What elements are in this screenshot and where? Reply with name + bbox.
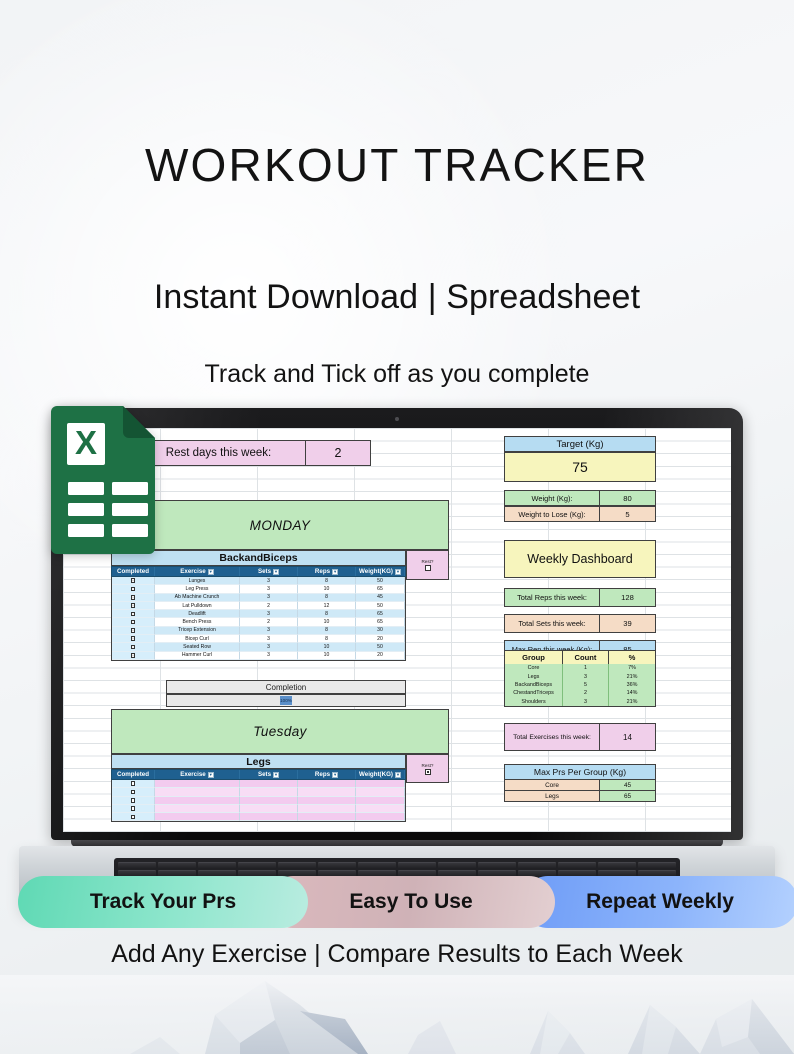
hero-section: WORKOUT TRACKER Instant Download | Sprea… — [0, 0, 794, 389]
completed-checkbox[interactable] — [131, 578, 136, 583]
group-table-cell-count: 1 — [563, 664, 609, 672]
total-exercises-value: 14 — [600, 723, 656, 751]
keyboard-key — [198, 862, 236, 869]
cell-weight[interactable]: 20 — [356, 652, 405, 660]
group-table-cell-count: 2 — [563, 689, 609, 697]
cell-reps[interactable]: 10 — [298, 618, 356, 626]
group-table-row: Legs321% — [505, 672, 655, 680]
table-row[interactable] — [112, 788, 405, 796]
filter-dropdown-icon[interactable]: ▼ — [332, 772, 338, 778]
cell-reps[interactable]: 8 — [298, 610, 356, 618]
group-table-cell-group: Shoulders — [505, 698, 563, 706]
group-stats-table: GroupCount%Core17%Legs321%BackandBiceps5… — [504, 650, 656, 707]
rest-label-monday: Rest? — [421, 559, 433, 564]
keyboard-key — [518, 862, 556, 869]
target-header: Target (Kg) — [504, 436, 656, 452]
cell-weight[interactable]: 30 — [356, 627, 405, 635]
cell-reps[interactable] — [298, 805, 356, 813]
table-row[interactable]: Tricep Extension3830 — [112, 627, 405, 635]
completion-progress-fill: 100% — [280, 696, 292, 705]
badge-label: Easy To Use — [349, 890, 472, 914]
completion-label: Completion — [166, 680, 406, 694]
column-header-label: Weight(KG) — [359, 568, 393, 575]
group-table-cell-pct: 21% — [609, 672, 655, 680]
keyboard-key — [638, 862, 676, 869]
total-exercises-row: Total Exercises this week: 14 — [504, 723, 656, 751]
keyboard-key — [238, 862, 276, 869]
total-sets-value: 39 — [600, 614, 656, 633]
table-row[interactable]: Hammer Curl31020 — [112, 652, 405, 660]
weight-to-lose-row: Weight to Lose (Kg): 5 — [504, 506, 656, 522]
feature-badges: Repeat Weekly Easy To Use Track Your Prs — [18, 876, 778, 928]
completion-progress-bar: 100% — [166, 694, 406, 707]
cell-sets[interactable] — [240, 788, 298, 796]
cell-reps[interactable] — [298, 780, 356, 788]
group-table-cell-count: 3 — [563, 698, 609, 706]
cell-exercise[interactable]: Seated Row — [155, 643, 240, 651]
group-table-row: Core17% — [505, 664, 655, 672]
completed-cell[interactable] — [112, 585, 155, 593]
cell-reps[interactable]: 8 — [298, 577, 356, 585]
cell-weight[interactable]: 20 — [356, 635, 405, 643]
column-header-label: Reps — [315, 771, 330, 778]
completed-cell[interactable] — [112, 602, 155, 610]
completed-checkbox[interactable] — [131, 790, 136, 795]
keyboard-key — [558, 862, 596, 869]
cell-reps[interactable] — [298, 813, 356, 821]
cell-sets[interactable]: 2 — [240, 602, 298, 610]
excel-file-icon[interactable]: X — [51, 406, 155, 554]
muscle-group-tuesday: Legs — [111, 754, 406, 769]
rest-label-tuesday: Rest? — [421, 763, 433, 768]
completed-cell[interactable] — [112, 627, 155, 635]
column-header-label: Reps — [315, 568, 330, 575]
cell-reps[interactable]: 10 — [298, 652, 356, 660]
table-row[interactable]: Lunges3850 — [112, 577, 405, 585]
rest-toggle-tuesday[interactable]: Rest? — [406, 754, 449, 783]
cell-weight[interactable]: 65 — [356, 618, 405, 626]
cell-sets[interactable] — [240, 797, 298, 805]
cell-weight[interactable] — [356, 813, 405, 821]
group-table-cell-count: 3 — [563, 672, 609, 680]
table-row[interactable]: Ab Machine Crunch3845 — [112, 594, 405, 602]
column-header-label: Exercise — [180, 771, 205, 778]
group-table-column-header: Group — [505, 651, 563, 664]
max-prs-group-value: 65 — [600, 791, 656, 802]
column-header-completed: Completed — [112, 770, 155, 779]
cell-exercise[interactable]: Lunges — [155, 577, 240, 585]
weekly-dashboard-title: Weekly Dashboard — [504, 540, 656, 578]
completed-cell[interactable] — [112, 652, 155, 660]
column-header-label: Sets — [258, 771, 271, 778]
group-table-cell-group: Core — [505, 664, 563, 672]
group-table-row: ChestandTriceps214% — [505, 689, 655, 697]
cell-exercise[interactable]: Bench Press — [155, 618, 240, 626]
cell-exercise[interactable] — [155, 780, 240, 788]
cell-reps[interactable] — [298, 797, 356, 805]
filter-dropdown-icon[interactable]: ▼ — [273, 569, 279, 575]
laptop-base — [51, 840, 743, 848]
keyboard-key — [358, 862, 396, 869]
target-value[interactable]: 75 — [504, 452, 656, 482]
group-table-cell-pct: 36% — [609, 681, 655, 689]
badge-repeat-weekly[interactable]: Repeat Weekly — [522, 876, 794, 928]
completed-checkbox[interactable] — [131, 815, 136, 820]
completed-checkbox[interactable] — [131, 653, 136, 658]
column-header-completed: Completed — [112, 567, 155, 576]
cell-sets[interactable]: 3 — [240, 652, 298, 660]
completed-cell[interactable] — [112, 618, 155, 626]
max-prs-row: Core45 — [504, 780, 656, 791]
cell-sets[interactable]: 3 — [240, 643, 298, 651]
column-header-weight-kg-: Weight(KG)▼ — [356, 567, 405, 576]
group-table-cell-count: 5 — [563, 681, 609, 689]
completed-cell[interactable] — [112, 797, 155, 805]
total-reps-row: Total Reps this week: 128 — [504, 588, 656, 607]
badge-label: Track Your Prs — [90, 890, 236, 914]
cell-sets[interactable]: 3 — [240, 585, 298, 593]
cell-sets[interactable]: 3 — [240, 635, 298, 643]
cell-sets[interactable]: 3 — [240, 577, 298, 585]
column-header-exercise: Exercise▼ — [155, 770, 240, 779]
rest-checkbox-monday[interactable] — [425, 565, 431, 571]
completed-checkbox[interactable] — [131, 636, 136, 641]
completed-cell[interactable] — [112, 577, 155, 585]
badge-track-your-prs[interactable]: Track Your Prs — [18, 876, 308, 928]
spreadsheet[interactable]: Rest days this week: 2 MONDAY BackandBic… — [63, 428, 731, 832]
table-header-monday: CompletedExercise▼Sets▼Reps▼Weight(KG)▼ — [111, 566, 406, 577]
cell-sets[interactable]: 3 — [240, 627, 298, 635]
filter-dropdown-icon[interactable]: ▼ — [395, 772, 401, 778]
svg-text:X: X — [75, 424, 97, 461]
completed-cell[interactable] — [112, 780, 155, 788]
column-header-label: Sets — [258, 568, 271, 575]
column-header-weight-kg-: Weight(KG)▼ — [356, 770, 405, 779]
table-row[interactable] — [112, 780, 405, 788]
cell-exercise[interactable] — [155, 813, 240, 821]
laptop-screen: Rest days this week: 2 MONDAY BackandBic… — [63, 428, 731, 832]
keyboard-key — [398, 862, 436, 869]
day-banner-tuesday: Tuesday — [111, 709, 449, 754]
filter-dropdown-icon[interactable]: ▼ — [208, 569, 214, 575]
keyboard-key — [438, 862, 476, 869]
completed-checkbox[interactable] — [131, 595, 136, 600]
exercise-table-monday[interactable]: Lunges3850Leg Press31065Ab Machine Crunc… — [111, 577, 406, 661]
weight-label: Weight (Kg): — [504, 490, 600, 506]
completed-checkbox[interactable] — [131, 645, 136, 650]
badge-easy-to-use[interactable]: Easy To Use — [267, 876, 555, 928]
column-header-reps: Reps▼ — [298, 770, 356, 779]
completed-cell[interactable] — [112, 788, 155, 796]
max-prs-group-label: Legs — [504, 791, 600, 802]
column-header-sets: Sets▼ — [240, 770, 298, 779]
table-row[interactable]: Deadlift3865 — [112, 610, 405, 618]
rest-toggle-monday[interactable]: Rest? — [406, 550, 449, 580]
hero-tagline: Track and Tick off as you complete — [0, 360, 794, 389]
rest-days-value[interactable]: 2 — [305, 440, 371, 466]
cell-reps[interactable]: 8 — [298, 594, 356, 602]
cell-sets[interactable]: 2 — [240, 618, 298, 626]
cell-weight[interactable] — [356, 788, 405, 796]
cell-exercise[interactable] — [155, 788, 240, 796]
cell-sets[interactable]: 3 — [240, 594, 298, 602]
group-table-cell-group: ChestandTriceps — [505, 689, 563, 697]
cell-exercise[interactable] — [155, 797, 240, 805]
completed-checkbox[interactable] — [131, 587, 136, 592]
cell-weight[interactable]: 50 — [356, 643, 405, 651]
total-exercises-label: Total Exercises this week: — [504, 723, 600, 751]
hero-subtitle: Instant Download | Spreadsheet — [0, 278, 794, 317]
cell-sets[interactable]: 3 — [240, 610, 298, 618]
column-header-sets: Sets▼ — [240, 567, 298, 576]
max-prs-table: Core45Legs65 — [504, 780, 656, 802]
keyboard-key — [318, 862, 356, 869]
cell-sets[interactable] — [240, 780, 298, 788]
total-reps-value: 128 — [600, 588, 656, 607]
keyboard-row — [118, 862, 676, 869]
completed-checkbox[interactable] — [131, 781, 136, 786]
cell-weight[interactable]: 45 — [356, 594, 405, 602]
badge-label: Repeat Weekly — [586, 890, 734, 914]
completed-cell[interactable] — [112, 635, 155, 643]
completed-checkbox[interactable] — [131, 612, 136, 617]
completed-checkbox[interactable] — [131, 798, 136, 803]
completed-cell[interactable] — [112, 610, 155, 618]
max-prs-group-value: 45 — [600, 780, 656, 791]
cell-weight[interactable]: 50 — [356, 602, 405, 610]
table-row[interactable]: Seated Row31050 — [112, 643, 405, 651]
weight-to-lose-value: 5 — [600, 506, 656, 522]
cell-reps[interactable]: 12 — [298, 602, 356, 610]
group-table-column-header: Count — [563, 651, 609, 664]
exercise-table-tuesday[interactable] — [111, 780, 406, 822]
crystal-decoration — [0, 975, 794, 1054]
group-table-row: BackandBiceps536% — [505, 681, 655, 689]
completed-checkbox[interactable] — [131, 603, 136, 608]
filter-dropdown-icon[interactable]: ▼ — [208, 772, 214, 778]
column-header-exercise: Exercise▼ — [155, 567, 240, 576]
keyboard-key — [278, 862, 316, 869]
cell-weight[interactable] — [356, 797, 405, 805]
muscle-group-monday: BackandBiceps — [111, 550, 406, 566]
completed-checkbox[interactable] — [131, 806, 136, 811]
page-title: WORKOUT TRACKER — [0, 138, 794, 192]
weight-to-lose-label: Weight to Lose (Kg): — [504, 506, 600, 522]
table-row[interactable] — [112, 805, 405, 813]
cell-reps[interactable]: 8 — [298, 627, 356, 635]
total-reps-label: Total Reps this week: — [504, 588, 600, 607]
group-table-cell-pct: 14% — [609, 689, 655, 697]
cell-weight[interactable]: 65 — [356, 585, 405, 593]
cell-weight[interactable]: 50 — [356, 577, 405, 585]
day-banner-monday: MONDAY — [111, 500, 449, 550]
max-prs-header: Max Prs Per Group (Kg) — [504, 764, 656, 780]
column-header-label: Weight(KG) — [359, 771, 393, 778]
table-row[interactable]: Bench Press21065 — [112, 618, 405, 626]
completed-cell[interactable] — [112, 805, 155, 813]
group-table-cell-group: Legs — [505, 672, 563, 680]
group-table-cell-pct: 21% — [609, 698, 655, 706]
group-table-cell-pct: 7% — [609, 664, 655, 672]
max-prs-group-label: Core — [504, 780, 600, 791]
completed-cell[interactable] — [112, 643, 155, 651]
cell-sets[interactable] — [240, 813, 298, 821]
cell-reps[interactable]: 10 — [298, 585, 356, 593]
column-header-label: Completed — [117, 771, 149, 778]
filter-dropdown-icon[interactable]: ▼ — [332, 569, 338, 575]
completed-checkbox[interactable] — [131, 628, 136, 633]
keyboard-key — [478, 862, 516, 869]
cell-weight[interactable] — [356, 805, 405, 813]
keyboard-key — [598, 862, 636, 869]
max-prs-row: Legs65 — [504, 791, 656, 802]
cell-reps[interactable] — [298, 788, 356, 796]
webcam-icon — [395, 417, 399, 421]
column-header-label: Exercise — [180, 568, 205, 575]
cell-weight[interactable]: 65 — [356, 610, 405, 618]
total-sets-label: Total Sets this week: — [504, 614, 600, 633]
filter-dropdown-icon[interactable]: ▼ — [273, 772, 279, 778]
column-header-label: Completed — [117, 568, 149, 575]
cell-exercise[interactable]: Deadlift — [155, 610, 240, 618]
filter-dropdown-icon[interactable]: ▼ — [395, 569, 401, 575]
cell-sets[interactable] — [240, 805, 298, 813]
table-row[interactable]: Leg Press31065 — [112, 585, 405, 593]
cell-exercise[interactable]: Leg Press — [155, 585, 240, 593]
group-table-cell-group: BackandBiceps — [505, 681, 563, 689]
table-header-tuesday: CompletedExercise▼Sets▼Reps▼Weight(KG)▼ — [111, 769, 406, 780]
cell-exercise[interactable]: Ab Machine Crunch — [155, 594, 240, 602]
footer-text: Add Any Exercise | Compare Results to Ea… — [0, 940, 794, 969]
table-row[interactable] — [112, 797, 405, 805]
rest-checkbox-tuesday[interactable] — [425, 769, 431, 775]
cell-exercise[interactable] — [155, 805, 240, 813]
cell-exercise[interactable]: Lat Pulldown — [155, 602, 240, 610]
completed-checkbox[interactable] — [131, 620, 136, 625]
cell-weight[interactable] — [356, 780, 405, 788]
table-row[interactable] — [112, 813, 405, 821]
keyboard-key — [118, 862, 156, 869]
group-table-header: GroupCount% — [505, 651, 655, 664]
cell-exercise[interactable]: Tricep Extension — [155, 627, 240, 635]
completed-cell[interactable] — [112, 813, 155, 821]
total-sets-row: Total Sets this week: 39 — [504, 614, 656, 633]
weight-value[interactable]: 80 — [600, 490, 656, 506]
rest-days-label: Rest days this week: — [131, 440, 306, 466]
cell-exercise[interactable]: Bicep Curl — [155, 635, 240, 643]
keyboard-key — [158, 862, 196, 869]
weight-row: Weight (Kg): 80 — [504, 490, 656, 506]
completed-cell[interactable] — [112, 594, 155, 602]
group-table-column-header: % — [609, 651, 655, 664]
table-row[interactable]: Lat Pulldown21250 — [112, 602, 405, 610]
cell-reps[interactable]: 8 — [298, 635, 356, 643]
table-row[interactable]: Bicep Curl3820 — [112, 635, 405, 643]
cell-reps[interactable]: 10 — [298, 643, 356, 651]
cell-exercise[interactable]: Hammer Curl — [155, 652, 240, 660]
column-header-reps: Reps▼ — [298, 567, 356, 576]
group-table-row: Shoulders321% — [505, 698, 655, 706]
